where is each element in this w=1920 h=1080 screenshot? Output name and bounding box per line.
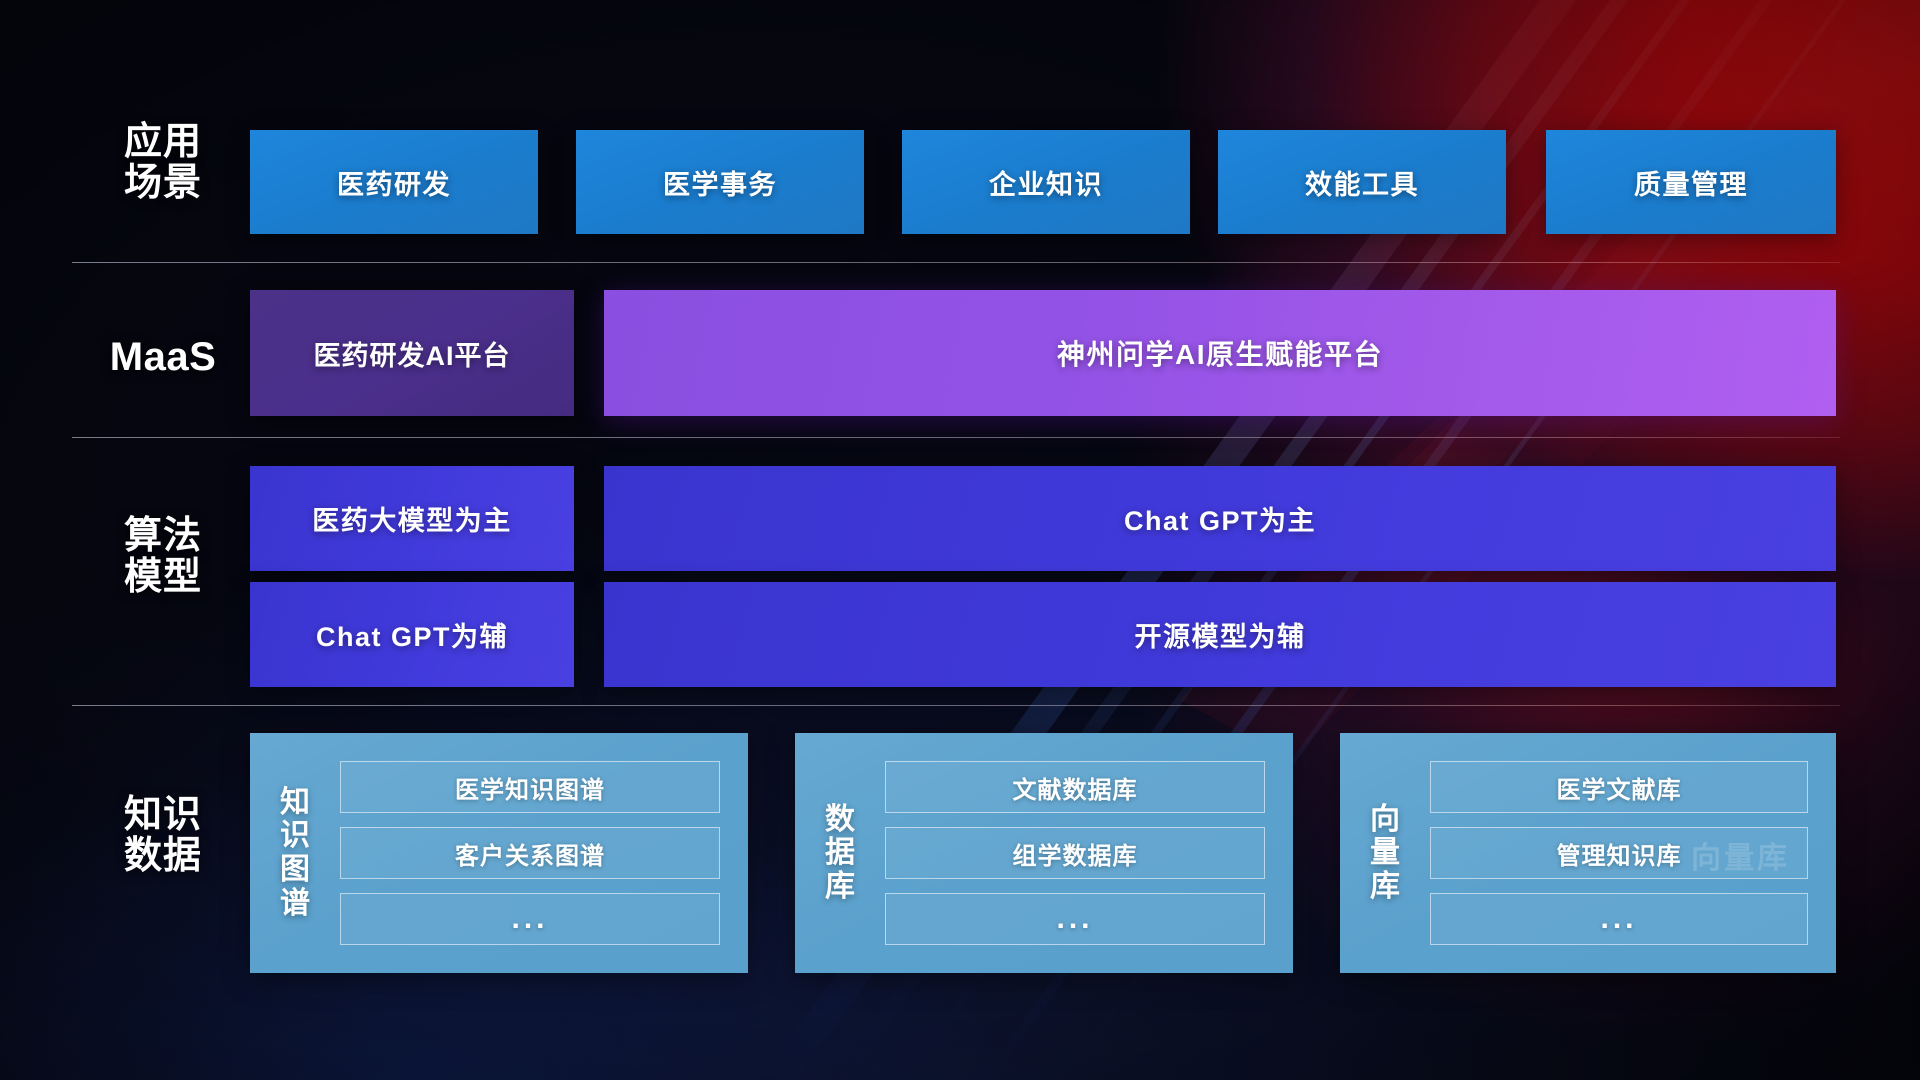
- row-label-application-scenarios: 应用 场景: [88, 122, 238, 204]
- maas-card-shenzhou-wenxue-platform[interactable]: 神州问学AI原生赋能平台: [604, 290, 1836, 416]
- architecture-diagram: 应用 场景 医药研发 医学事务 企业知识 效能工具 质量管理 MaaS 医药研发…: [0, 0, 1920, 1080]
- knowledge-item-box-more[interactable]: ...: [885, 893, 1265, 945]
- row-label-line: 应用: [88, 122, 238, 163]
- row-label-algorithm-model: 算法 模型: [88, 516, 238, 598]
- knowledge-panel-items: 文献数据库 组学数据库 ...: [867, 733, 1293, 973]
- divider-3: [72, 705, 1840, 706]
- app-card-label: 企业知识: [989, 163, 1103, 202]
- row-label-maas: MaaS: [88, 336, 238, 379]
- row-label-line: 知识: [88, 795, 238, 836]
- vertical-label-char: 据: [825, 836, 855, 870]
- app-card-quality-management[interactable]: 质量管理: [1546, 130, 1836, 234]
- algo-card-label: Chat GPT为主: [1124, 499, 1316, 538]
- knowledge-panel-vertical-label: 数 据 库: [795, 733, 867, 973]
- vertical-label-char: 识: [280, 819, 310, 853]
- knowledge-item-box[interactable]: 文献数据库: [885, 761, 1265, 813]
- knowledge-panel-vertical-label: 向 量 库: [1340, 733, 1412, 973]
- app-card-medicine-rd[interactable]: 医药研发: [250, 130, 538, 234]
- vertical-label-char: 库: [825, 870, 855, 904]
- knowledge-item-box-more[interactable]: ...: [1430, 893, 1808, 945]
- vertical-label-char: 库: [1370, 870, 1400, 904]
- app-card-label: 效能工具: [1305, 163, 1419, 202]
- vertical-label-char: 图: [280, 853, 310, 887]
- divider-2: [72, 437, 1840, 438]
- knowledge-item-box[interactable]: 客户关系图谱: [340, 827, 720, 879]
- knowledge-item-box[interactable]: 管理知识库: [1430, 827, 1808, 879]
- row-label-line: 算法: [88, 516, 238, 557]
- row-label-knowledge-data: 知识 数据: [88, 795, 238, 877]
- app-card-enterprise-knowledge[interactable]: 企业知识: [902, 130, 1190, 234]
- algo-card-label: Chat GPT为辅: [316, 615, 508, 654]
- row-label-line: 模型: [88, 557, 238, 598]
- knowledge-panel-database[interactable]: 数 据 库 文献数据库 组学数据库 ...: [795, 733, 1293, 973]
- app-card-efficiency-tools[interactable]: 效能工具: [1218, 130, 1506, 234]
- divider-1: [72, 262, 1840, 263]
- algo-card-label: 医药大模型为主: [312, 499, 512, 538]
- knowledge-item-box-more[interactable]: ...: [340, 893, 720, 945]
- app-card-label: 质量管理: [1634, 163, 1748, 202]
- algo-card-chatgpt-secondary[interactable]: Chat GPT为辅: [250, 582, 574, 687]
- knowledge-item-box[interactable]: 医学文献库: [1430, 761, 1808, 813]
- app-card-label: 医学事务: [663, 163, 777, 202]
- vertical-label-char: 向: [1370, 803, 1400, 837]
- row-label-line: 场景: [88, 163, 238, 204]
- knowledge-panel-knowledge-graph[interactable]: 知 识 图 谱 医学知识图谱 客户关系图谱 ...: [250, 733, 748, 973]
- maas-card-label: 医药研发AI平台: [314, 334, 511, 373]
- vertical-label-char: 数: [825, 803, 855, 837]
- app-card-label: 医药研发: [337, 163, 451, 202]
- knowledge-panel-vertical-label: 知 识 图 谱: [250, 733, 322, 973]
- app-card-medical-affairs[interactable]: 医学事务: [576, 130, 864, 234]
- knowledge-panel-items: 医学文献库 管理知识库 ...: [1412, 733, 1836, 973]
- vertical-label-char: 谱: [280, 887, 310, 921]
- vertical-label-char: 知: [280, 786, 310, 820]
- knowledge-item-box[interactable]: 医学知识图谱: [340, 761, 720, 813]
- algo-card-medicine-llm-primary[interactable]: 医药大模型为主: [250, 466, 574, 571]
- knowledge-panel-items: 医学知识图谱 客户关系图谱 ...: [322, 733, 748, 973]
- row-label-line: 数据: [88, 836, 238, 877]
- maas-card-medicine-ai-platform[interactable]: 医药研发AI平台: [250, 290, 574, 416]
- algo-card-chatgpt-primary[interactable]: Chat GPT为主: [604, 466, 1836, 571]
- row-label-line: MaaS: [88, 336, 238, 379]
- algo-card-opensource-secondary[interactable]: 开源模型为辅: [604, 582, 1836, 687]
- vertical-label-char: 量: [1370, 836, 1400, 870]
- knowledge-panel-vector-database[interactable]: 向 量 库 医学文献库 管理知识库 ... 向量库: [1340, 733, 1836, 973]
- maas-card-label: 神州问学AI原生赋能平台: [1057, 333, 1383, 373]
- algo-card-label: 开源模型为辅: [1135, 615, 1306, 654]
- knowledge-item-box[interactable]: 组学数据库: [885, 827, 1265, 879]
